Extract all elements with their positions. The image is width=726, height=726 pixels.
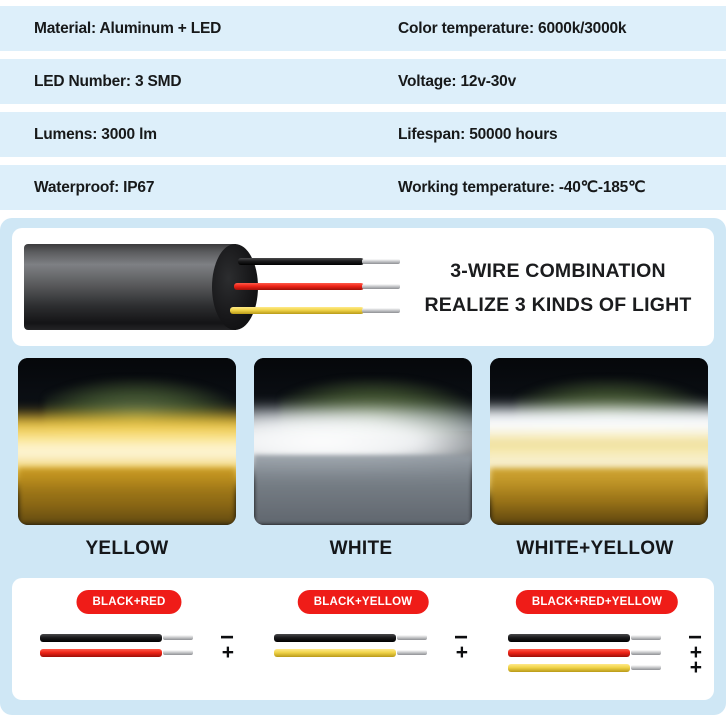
wire-black-icon [40,634,162,642]
cable-wire-black-tip-icon [362,259,400,264]
road-surface [254,455,472,525]
wire-row: + [508,645,686,660]
hero-line-1: 3-WIRE COMBINATION [412,254,704,288]
wire-yellow-icon [508,664,630,672]
wire-list: − + + [508,630,686,675]
caption-white: WHITE [252,538,470,560]
wire-tip-icon [631,650,661,655]
table-row: Material: Aluminum + LED Color temperatu… [0,6,726,51]
wire-tip-icon [631,665,661,670]
wiring-group-black-red-yellow: BLACK+RED+YELLOW − + + [480,578,714,700]
wire-list: − + [40,630,218,660]
polarity-positive: + [690,660,702,675]
badge-black-red: BLACK+RED [76,590,181,614]
cable-wire-black-icon [238,258,364,265]
beam-caption-row: YELLOW WHITE WHITE+YELLOW [0,538,726,560]
spec-lifespan: Lifespan: 50000 hours [364,126,726,144]
cable-wire-red-tip-icon [362,284,400,289]
hero-text: 3-WIRE COMBINATION REALIZE 3 KINDS OF LI… [412,254,704,322]
badge-black-red-yellow: BLACK+RED+YELLOW [516,590,678,614]
table-row: Lumens: 3000 lm Lifespan: 50000 hours [0,112,726,157]
beam-photo-white-yellow [490,358,708,525]
wire-red-icon [40,649,162,657]
table-row: Waterproof: IP67 Working temperature: -4… [0,165,726,210]
specification-table: Material: Aluminum + LED Color temperatu… [0,0,726,210]
spec-material: Material: Aluminum + LED [0,20,364,38]
wiring-group-black-red: BLACK+RED − + [12,578,246,700]
spec-led-number: LED Number: 3 SMD [0,73,364,91]
beam-photo-yellow [18,358,236,525]
wire-tip-icon [163,650,193,655]
beam-photo-white [254,358,472,525]
wire-combination-card: 3-WIRE COMBINATION REALIZE 3 KINDS OF LI… [12,228,714,346]
wire-tip-icon [397,635,427,640]
wire-row: + [508,660,686,675]
cable-wire-yellow-icon [230,307,364,314]
table-row: LED Number: 3 SMD Voltage: 12v-30v [0,59,726,104]
feature-panel: 3-WIRE COMBINATION REALIZE 3 KINDS OF LI… [0,218,726,715]
spec-working-temperature: Working temperature: -40℃-185℃ [364,178,726,197]
cable-wire-yellow-tip-icon [362,308,400,313]
spec-lumens: Lumens: 3000 lm [0,126,364,144]
wire-tip-icon [631,635,661,640]
hero-line-2: REALIZE 3 KINDS OF LIGHT [412,288,704,322]
wiring-group-black-yellow: BLACK+YELLOW − + [246,578,480,700]
wiring-combination-card: BLACK+RED − + BLACK+YELLOW [12,578,714,700]
caption-white-yellow: WHITE+YELLOW [486,538,704,560]
wire-black-icon [274,634,396,642]
wire-row: + [40,645,218,660]
wire-yellow-icon [274,649,396,657]
caption-yellow: YELLOW [18,538,236,560]
cable-wire-red-icon [234,283,364,290]
cable-sheath-icon [24,244,236,330]
spec-color-temperature: Color temperature: 6000k/3000k [364,20,726,38]
beam-photo-row [0,358,726,533]
wire-list: − + [274,630,452,660]
spec-voltage: Voltage: 12v-30v [364,73,726,91]
polarity-positive: + [222,645,234,660]
road-surface [490,468,708,525]
spec-waterproof: Waterproof: IP67 [0,179,364,197]
wire-row: − [274,630,452,645]
wire-row: − [508,630,686,645]
badge-black-yellow: BLACK+YELLOW [298,590,429,614]
wire-row: − [40,630,218,645]
wire-black-icon [508,634,630,642]
wire-tip-icon [397,650,427,655]
road-surface [18,468,236,525]
wire-tip-icon [163,635,193,640]
wire-row: + [274,645,452,660]
wire-red-icon [508,649,630,657]
polarity-positive: + [456,645,468,660]
